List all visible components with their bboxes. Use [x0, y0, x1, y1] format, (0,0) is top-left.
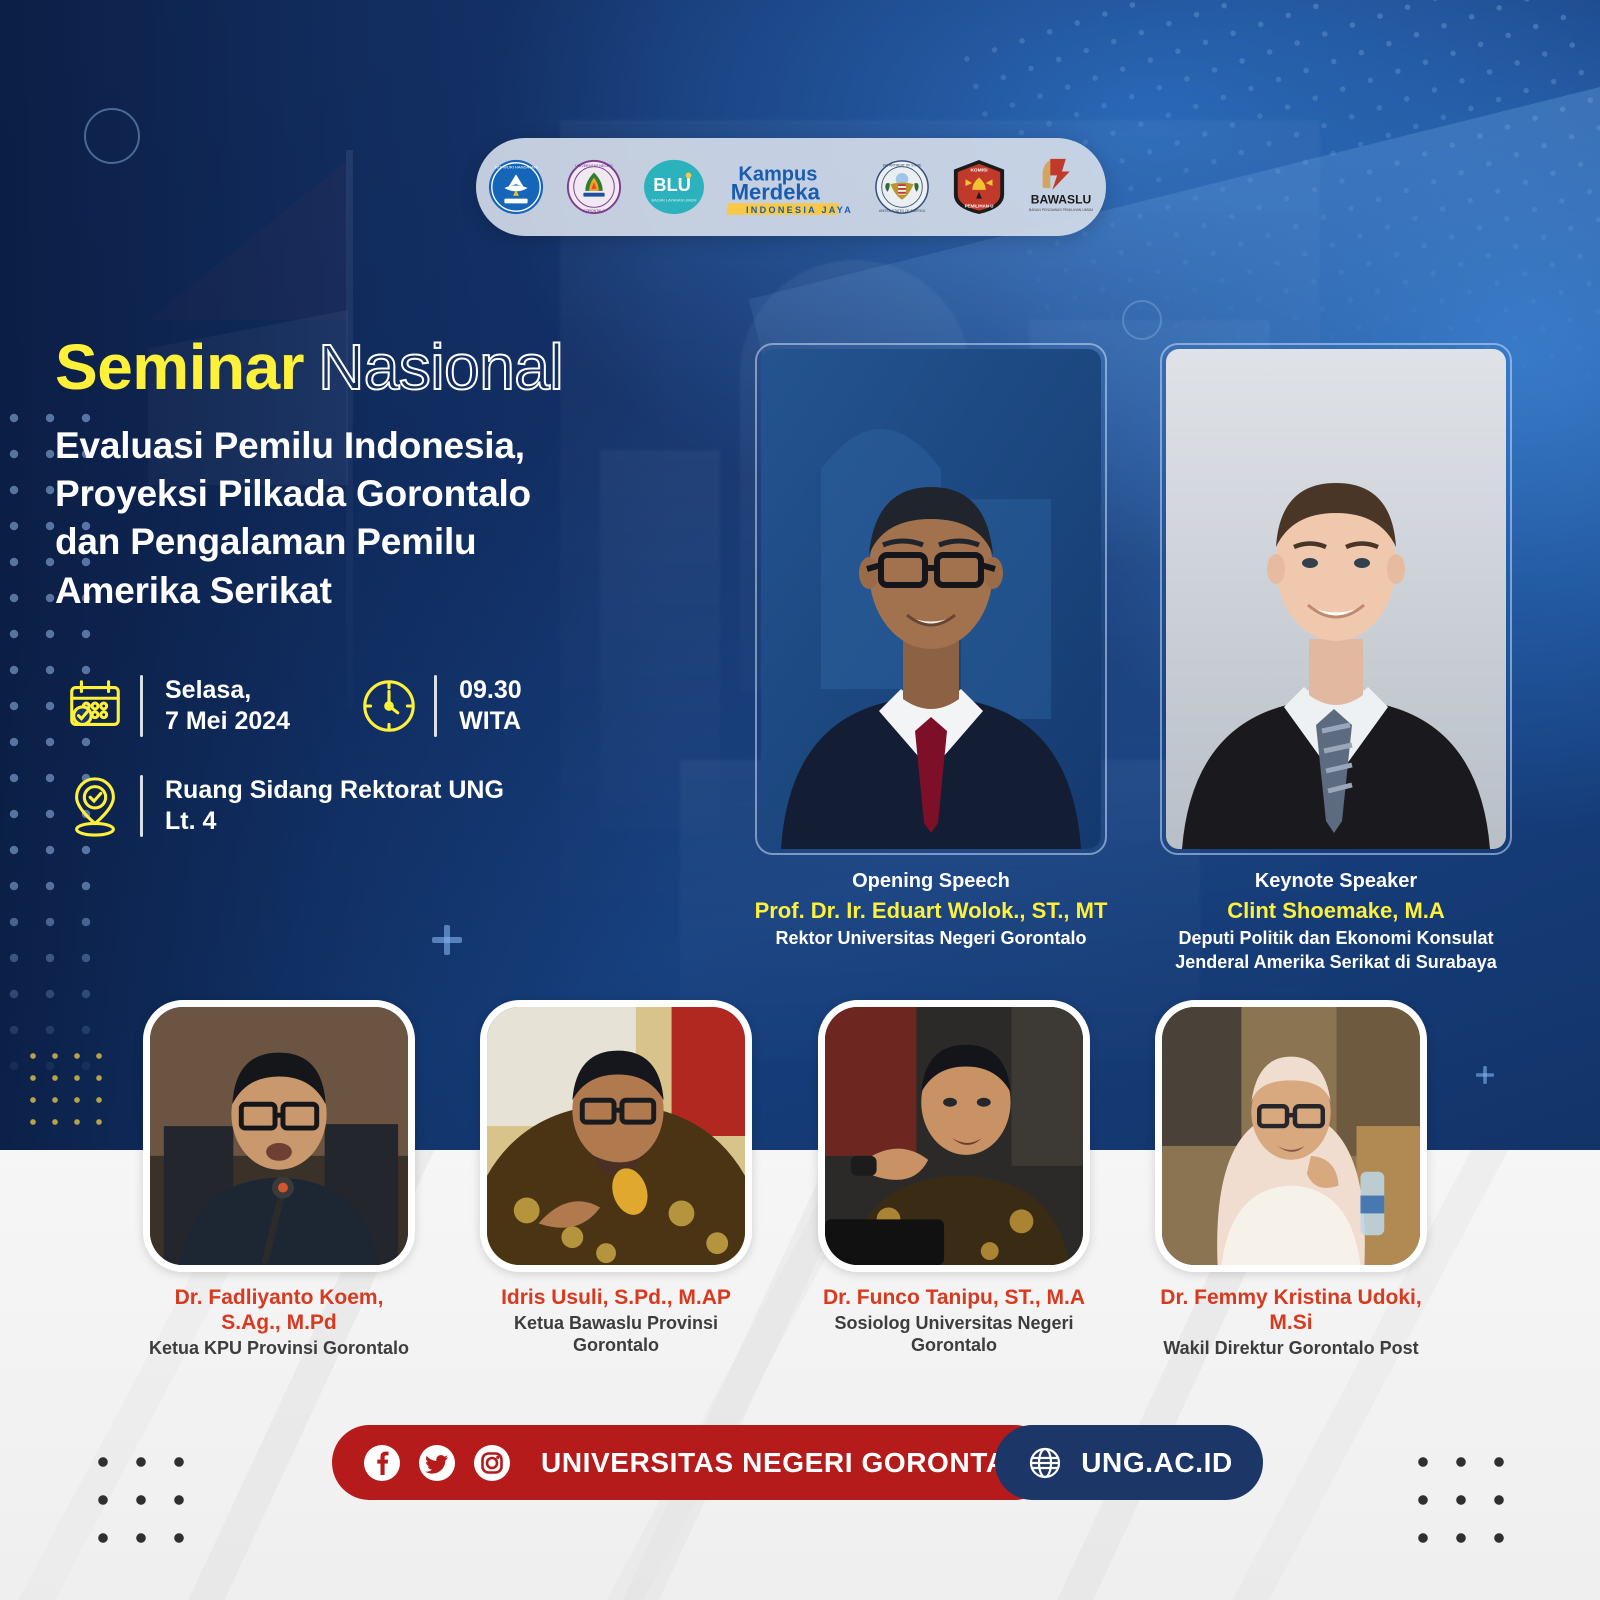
opening-speaker-org: Rektor Universitas Negeri Gorontalo — [741, 927, 1121, 950]
panelist-card-1: Dr. Fadliyanto Koem, S.Ag., M.Pd Ketua K… — [143, 1000, 415, 1360]
divider-3 — [140, 775, 143, 837]
svg-text:BADAN LAYANAN UMUM: BADAN LAYANAN UMUM — [652, 199, 697, 203]
instagram-icon[interactable] — [472, 1443, 512, 1483]
subtitle-line-1: Evaluasi Pemilu Indonesia, — [55, 422, 735, 470]
svg-text:Merdeka: Merdeka — [731, 179, 821, 204]
dot-grid-left — [84, 1443, 202, 1561]
social-handle-pill[interactable]: UNIVERSITAS NEGERI GORONTALO — [332, 1425, 1052, 1500]
svg-text:KOMISI: KOMISI — [970, 168, 988, 174]
subtitle-line-3: dan Pengalaman Pemilu — [55, 518, 735, 566]
dot-grid-right — [1404, 1443, 1522, 1561]
svg-text:UNIVERSITAS NEGERI: UNIVERSITAS NEGERI — [575, 164, 612, 168]
facebook-icon[interactable] — [362, 1443, 402, 1483]
keynote-speaker-photo-card — [1160, 343, 1512, 855]
panelist-photo-2 — [480, 1000, 752, 1272]
website-text: UNG.AC.ID — [1081, 1447, 1233, 1479]
calendar-check-icon — [58, 668, 132, 744]
keynote-speaker-role: Keynote Speaker — [1146, 868, 1526, 894]
svg-text:BAWASLU: BAWASLU — [1031, 192, 1091, 206]
circle-outline-decoration-2 — [1122, 300, 1162, 340]
headline-block: SeminarNasional Evaluasi Pemilu Indonesi… — [55, 335, 735, 615]
svg-text:INDONESIA JAYA: INDONESIA JAYA — [746, 205, 853, 215]
event-date: Selasa, 7 Mei 2024 — [165, 675, 290, 738]
sponsor-logo-bar: TUT WURI HANDAYANI UNIVERSITAS NEGERI GO… — [476, 138, 1106, 236]
plus-decoration-2 — [1476, 1066, 1494, 1084]
us-department-of-state-logo: DEPARTMENT OF STATE UNITED STATES OF AME… — [873, 158, 931, 216]
time-line-1: 09.30 — [459, 675, 522, 707]
plus-decoration — [432, 925, 462, 955]
time-line-2: WITA — [459, 706, 522, 738]
panelist-photo-3 — [818, 1000, 1090, 1272]
subtitle-line-4: Amerika Serikat — [55, 567, 735, 615]
panelist-photo-4 — [1155, 1000, 1427, 1272]
title-word-seminar: Seminar — [55, 331, 304, 403]
twitter-icon[interactable] — [417, 1443, 457, 1483]
kemendikbud-tut-wuri-handayani-logo: TUT WURI HANDAYANI — [487, 158, 545, 216]
circle-outline-decoration — [84, 108, 140, 164]
divider-2 — [434, 675, 437, 737]
panelist-role-3: Sosiolog Universitas Negeri Gorontalo — [818, 1313, 1090, 1356]
panelist-card-2: Idris Usuli, S.Pd., M.AP Ketua Bawaslu P… — [480, 1000, 752, 1356]
kpu-komisi-pemilihan-umum-logo: KOMISI PEMILIHAN U — [951, 158, 1007, 216]
blu-badan-layanan-umum-logo: BLU BADAN LAYANAN UMUM — [643, 158, 705, 216]
poster-title: SeminarNasional — [55, 335, 735, 400]
venue-line-2: Lt. 4 — [165, 806, 504, 838]
divider — [140, 675, 143, 737]
seminar-poster: TUT WURI HANDAYANI UNIVERSITAS NEGERI GO… — [0, 0, 1600, 1600]
keynote-speaker-caption: Keynote Speaker Clint Shoemake, M.A Depu… — [1146, 868, 1526, 974]
website-pill[interactable]: UNG.AC.ID — [995, 1425, 1263, 1500]
event-info-block: Selasa, 7 Mei 2024 09.30 WITA — [58, 668, 738, 844]
panelist-name-2: Idris Usuli, S.Pd., M.AP — [480, 1285, 752, 1310]
panelist-role-4: Wakil Direktur Gorontalo Post — [1155, 1338, 1427, 1360]
panelist-card-4: Dr. Femmy Kristina Udoki, M.Si Wakil Dir… — [1155, 1000, 1427, 1360]
svg-text:DEPARTMENT OF STATE: DEPARTMENT OF STATE — [883, 164, 922, 168]
keynote-speaker-org-line-1: Deputi Politik dan Ekonomi Konsulat — [1146, 927, 1526, 950]
svg-text:PEMILIHAN U: PEMILIHAN U — [965, 203, 994, 208]
kampus-merdeka-logo: Kampus Merdeka INDONESIA JAYA — [725, 157, 853, 217]
opening-speaker-photo — [761, 349, 1101, 849]
panelist-name-4: Dr. Femmy Kristina Udoki, M.Si — [1155, 1285, 1427, 1335]
svg-text:BADAN PENGAWAS PEMILIHAN UMUM: BADAN PENGAWAS PEMILIHAN UMUM — [1029, 208, 1093, 212]
keynote-speaker-org-line-2: Jenderal Amerika Serikat di Surabaya — [1146, 951, 1526, 974]
dot-pattern-left-yellow — [22, 1045, 112, 1135]
keynote-speaker-photo — [1166, 349, 1506, 849]
universitas-negeri-gorontalo-logo: UNIVERSITAS NEGERI GORONTALO — [565, 158, 623, 216]
social-handle-text: UNIVERSITAS NEGERI GORONTALO — [541, 1447, 1047, 1479]
keynote-speaker-name: Clint Shoemake, M.A — [1146, 896, 1526, 926]
poster-subtitle: Evaluasi Pemilu Indonesia, Proyeksi Pilk… — [55, 422, 735, 614]
svg-text:BLU: BLU — [653, 174, 691, 195]
svg-text:UNITED STATES OF AMERICA: UNITED STATES OF AMERICA — [879, 209, 926, 213]
globe-icon — [1025, 1443, 1065, 1483]
opening-speaker-role: Opening Speech — [741, 868, 1121, 894]
bawaslu-logo: BAWASLU BADAN PENGAWAS PEMILIHAN UMUM — [1027, 157, 1095, 217]
event-time: 09.30 WITA — [459, 675, 522, 738]
svg-text:GORONTALO: GORONTALO — [583, 209, 605, 213]
footer-bar: UNIVERSITAS NEGERI GORONTALO UNG.AC.ID — [332, 1425, 1262, 1500]
panelist-name-3: Dr. Funco Tanipu, ST., M.A — [818, 1285, 1090, 1310]
panelist-role-1: Ketua KPU Provinsi Gorontalo — [143, 1338, 415, 1360]
clock-icon — [352, 668, 426, 744]
panelist-photo-1 — [143, 1000, 415, 1272]
title-word-nasional: Nasional — [318, 331, 563, 403]
date-line-2: 7 Mei 2024 — [165, 706, 290, 738]
opening-speaker-caption: Opening Speech Prof. Dr. Ir. Eduart Wolo… — [741, 868, 1121, 950]
location-pin-check-icon — [58, 768, 132, 844]
panelist-role-2: Ketua Bawaslu Provinsi Gorontalo — [480, 1313, 752, 1356]
event-venue: Ruang Sidang Rektorat UNG Lt. 4 — [165, 775, 504, 838]
panelist-card-3: Dr. Funco Tanipu, ST., M.A Sosiolog Univ… — [818, 1000, 1090, 1356]
subtitle-line-2: Proyeksi Pilkada Gorontalo — [55, 470, 735, 518]
date-time-row: Selasa, 7 Mei 2024 09.30 WITA — [58, 668, 738, 744]
opening-speaker-photo-card — [755, 343, 1107, 855]
date-line-1: Selasa, — [165, 675, 290, 707]
svg-text:TUT WURI HANDAYANI: TUT WURI HANDAYANI — [494, 165, 538, 170]
venue-line-1: Ruang Sidang Rektorat UNG — [165, 775, 504, 807]
venue-row: Ruang Sidang Rektorat UNG Lt. 4 — [58, 768, 738, 844]
opening-speaker-name: Prof. Dr. Ir. Eduart Wolok., ST., MT — [741, 896, 1121, 926]
panelist-name-1: Dr. Fadliyanto Koem, S.Ag., M.Pd — [143, 1285, 415, 1335]
